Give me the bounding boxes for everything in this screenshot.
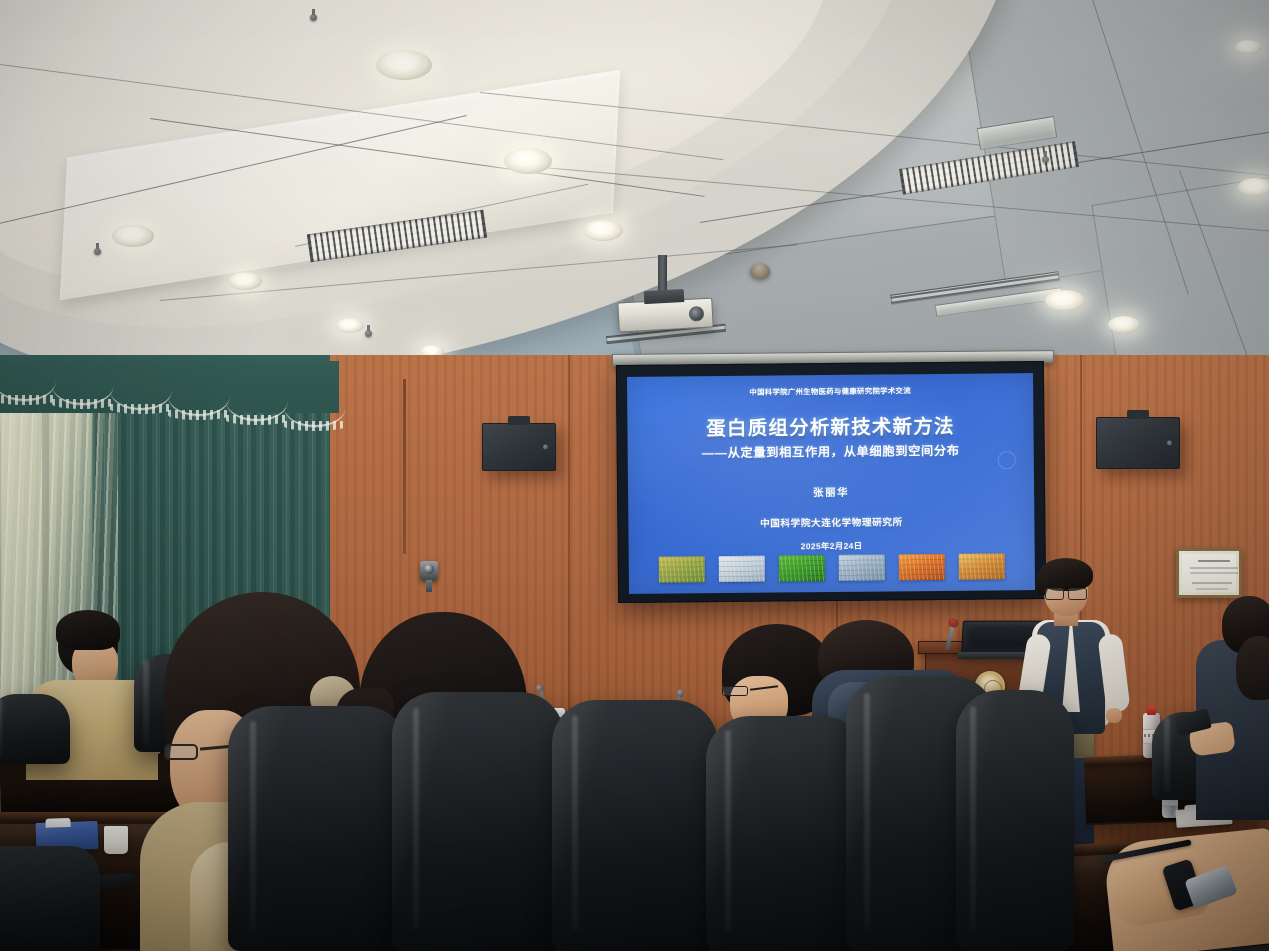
chair-front-center-left xyxy=(392,692,564,951)
attendee-glasses xyxy=(164,744,238,760)
conference-room-photo: 中国科学院广州生物医药与健康研究院学术交流 蛋白质组分析新技术新方法 ——从定量… xyxy=(0,0,1269,951)
projection-screen: 中国科学院广州生物医药与健康研究院学术交流 蛋白质组分析新技术新方法 ——从定量… xyxy=(616,361,1046,603)
ceiling-downlight xyxy=(1238,178,1269,196)
scalloped-valance xyxy=(0,361,339,413)
chair-front-right-1 xyxy=(706,716,866,951)
slide-organization-line: 中国科学院广州生物医药与健康研究院学术交流 xyxy=(627,384,1033,399)
paper-cup xyxy=(104,826,128,854)
slide-thumbnail-strip xyxy=(629,553,1035,583)
slide-thumbnail xyxy=(719,556,765,582)
presenter-glasses xyxy=(1045,588,1087,598)
slide-thumbnail xyxy=(779,555,825,581)
slide-watermark xyxy=(998,451,1016,469)
ceiling-downlight xyxy=(1045,290,1085,311)
presentation-slide: 中国科学院广州生物医药与健康研究院学术交流 蛋白质组分析新技术新方法 ——从定量… xyxy=(627,373,1035,594)
chair-front-center xyxy=(552,700,718,951)
wall-speaker-right xyxy=(1096,417,1180,469)
attendee-far-right-head xyxy=(1236,636,1269,700)
slide-title: 蛋白质组分析新技术新方法 xyxy=(627,409,1033,442)
slide-date: 2025年2月24日 xyxy=(629,538,1035,554)
chair-back-left xyxy=(0,694,70,764)
chair-front-left xyxy=(228,706,408,951)
sprinkler-head xyxy=(94,248,101,255)
ceiling-projector xyxy=(617,298,713,333)
sprinkler-head xyxy=(310,14,317,21)
slide-author: 张丽华 xyxy=(628,483,1034,502)
slide-affiliation: 中国科学院大连化学物理研究所 xyxy=(628,513,1034,531)
slide-thumbnail xyxy=(659,556,705,582)
slide-thumbnail xyxy=(899,554,945,580)
ceiling-downlight xyxy=(228,272,262,290)
sprinkler-head xyxy=(1042,156,1049,163)
wall-cable-run xyxy=(403,379,406,554)
ceiling-downlight xyxy=(376,50,432,80)
slide-subtitle: ——从定量到相互作用，从单细胞到空间分布 xyxy=(628,440,1034,462)
mobile-phone xyxy=(96,873,135,890)
plaque-inner xyxy=(1182,554,1236,592)
ceiling-dome-speaker xyxy=(750,263,770,279)
presenter-hair xyxy=(1039,558,1093,591)
wall-speaker-left xyxy=(482,423,556,471)
ceiling-downlight xyxy=(336,318,364,333)
ceiling-downlight xyxy=(112,225,154,247)
slide-thumbnail xyxy=(959,553,1005,579)
presenter-hand-right xyxy=(1106,708,1122,723)
sprinkler-head xyxy=(365,330,372,337)
ceiling xyxy=(0,0,1269,372)
wall-camera xyxy=(420,561,438,581)
chair-foreground-left xyxy=(0,846,100,951)
chair-front-right-3 xyxy=(956,690,1074,951)
ceiling-downlight xyxy=(1235,40,1261,54)
ceiling-downlight xyxy=(1108,316,1140,333)
slide-thumbnail xyxy=(839,554,885,580)
ceiling-downlight xyxy=(583,220,623,241)
attendee-hair-top xyxy=(56,610,120,650)
attendee-glasses xyxy=(722,686,780,696)
framed-plaque xyxy=(1176,548,1242,598)
projector-lens xyxy=(689,306,705,322)
ceiling-downlight xyxy=(504,148,552,174)
